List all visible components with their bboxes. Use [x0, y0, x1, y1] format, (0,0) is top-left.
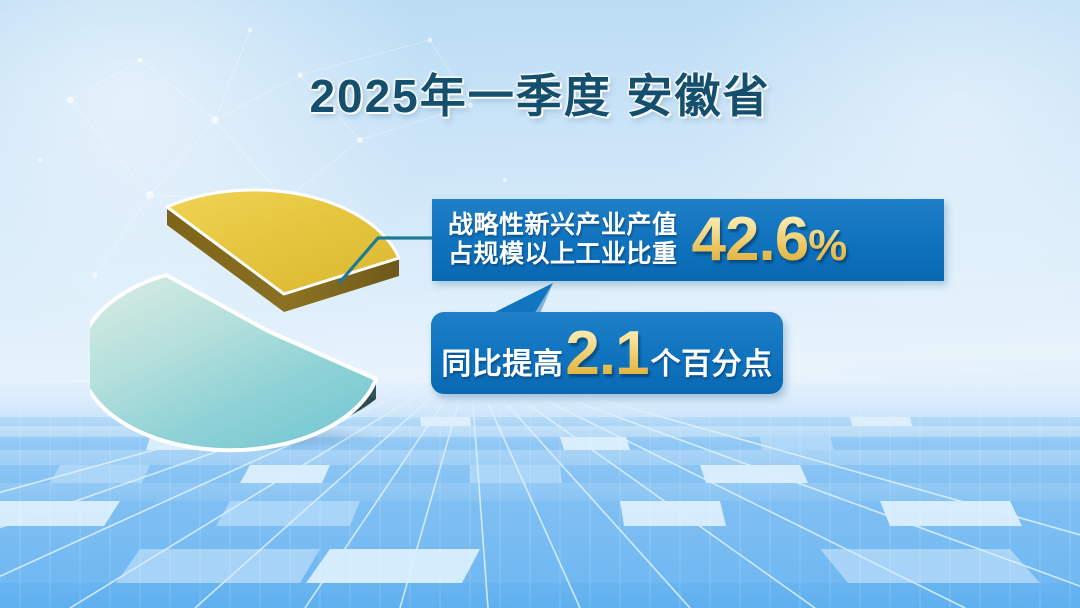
share-callout-number: 42.6	[692, 205, 809, 274]
growth-callout-value: 2.1	[565, 323, 648, 385]
share-callout-unit: %	[808, 221, 846, 270]
share-callout-label: 战略性新兴产业产值 占规模以上工业比重	[448, 211, 678, 270]
share-callout-label-line2: 占规模以上工业比重	[448, 240, 678, 269]
share-callout-label-line1: 战略性新兴产业产值	[448, 211, 678, 240]
infographic-stage: 2025年一季度 安徽省 战略性新兴产业产值 占规模以上工业比重 42.6% 同…	[0, 0, 1080, 608]
pie-chart	[90, 175, 440, 455]
pie-slice-other	[90, 275, 376, 450]
growth-callout-prefix: 同比提高	[441, 339, 563, 383]
growth-callout-suffix: 个百分点	[651, 339, 773, 383]
growth-callout-banner[interactable]: 同比提高 2.1 个百分点	[431, 312, 783, 394]
page-title: 2025年一季度 安徽省	[0, 60, 1080, 126]
share-callout-banner[interactable]: 战略性新兴产业产值 占规模以上工业比重 42.6%	[432, 199, 944, 281]
share-callout-value: 42.6%	[692, 209, 847, 271]
light-bloom-top-right	[680, 0, 1080, 340]
